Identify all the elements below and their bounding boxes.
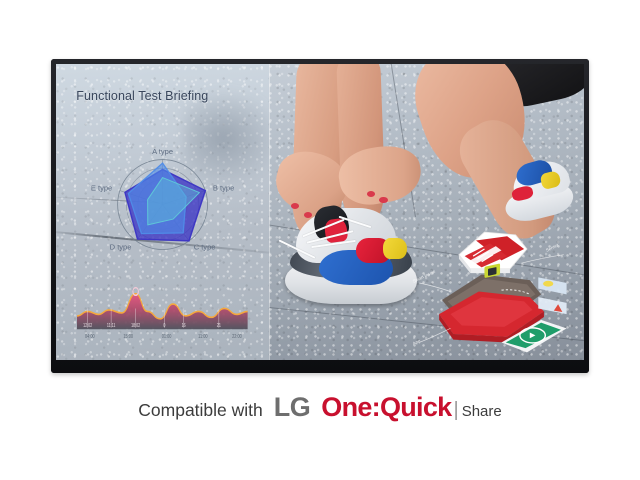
svg-text:D type: D type bbox=[110, 243, 132, 252]
svg-text:A type: A type bbox=[152, 147, 173, 156]
smart-shoe-illustration-svg: SensorSmart InsoleApp bbox=[408, 209, 578, 357]
svg-text:B type: B type bbox=[213, 184, 234, 193]
svg-text:11:11: 11:11 bbox=[107, 322, 116, 328]
svg-text:E type: E type bbox=[91, 184, 112, 193]
waveform-area bbox=[77, 293, 248, 329]
monitor-screen: Functional Test Briefing A typeB typeC t… bbox=[56, 64, 584, 360]
runner-front-sneaker bbox=[285, 197, 417, 304]
waveform-chart[interactable]: 12:0211:1118:0201621 04:0015:0001:0011:0… bbox=[77, 270, 248, 344]
svg-text:12:02: 12:02 bbox=[83, 322, 93, 328]
compatible-with-label: Compatible with bbox=[138, 400, 263, 421]
svg-text:Smart Insole: Smart Insole bbox=[412, 268, 437, 284]
svg-text:21: 21 bbox=[217, 322, 221, 328]
radar-chart-svg: A typeB typeC typeD typeE type bbox=[73, 132, 252, 277]
screen-panel-left[interactable]: Functional Test Briefing A typeB typeC t… bbox=[56, 64, 269, 360]
svg-text:04:00: 04:00 bbox=[85, 333, 95, 339]
radar-chart[interactable]: A typeB typeC typeD typeE type bbox=[73, 132, 252, 277]
svg-text:C type: C type bbox=[194, 243, 216, 252]
brand-separator: | bbox=[454, 399, 459, 422]
smart-shoe-illustration[interactable]: SensorSmart InsoleApp bbox=[408, 209, 578, 357]
svg-text:18:02: 18:02 bbox=[131, 322, 141, 328]
screen-panel-divider bbox=[269, 64, 270, 360]
radar-series-group bbox=[125, 163, 205, 241]
share-label: Share bbox=[462, 403, 502, 420]
waveform-chart-svg: 12:0211:1118:0201621 04:0015:0001:0011:0… bbox=[77, 270, 248, 344]
svg-text:15:00: 15:00 bbox=[124, 333, 134, 339]
display-monitor: Functional Test Briefing A typeB typeC t… bbox=[51, 59, 589, 373]
screen-panel-right[interactable]: SensorSmart InsoleApp bbox=[269, 64, 584, 360]
brand-line: Compatible with LG One:Quick | Share bbox=[0, 392, 640, 423]
svg-text:11:00: 11:00 bbox=[199, 333, 209, 339]
lg-logo-text: LG bbox=[274, 392, 311, 423]
one-quick-logo-text: One:Quick bbox=[321, 392, 451, 423]
page-title: Functional Test Briefing bbox=[76, 89, 208, 103]
svg-text:22:00: 22:00 bbox=[233, 333, 243, 339]
monitor-bezel: Functional Test Briefing A typeB typeC t… bbox=[51, 59, 589, 373]
svg-text:Sensor: Sensor bbox=[545, 242, 560, 253]
svg-text:App: App bbox=[412, 338, 422, 346]
svg-text:01:00: 01:00 bbox=[162, 333, 172, 339]
iso-data-cards[interactable] bbox=[538, 277, 566, 314]
waveform-axis-labels: 04:0015:0001:0011:0022:00 bbox=[85, 333, 242, 339]
svg-text:16: 16 bbox=[182, 322, 186, 328]
